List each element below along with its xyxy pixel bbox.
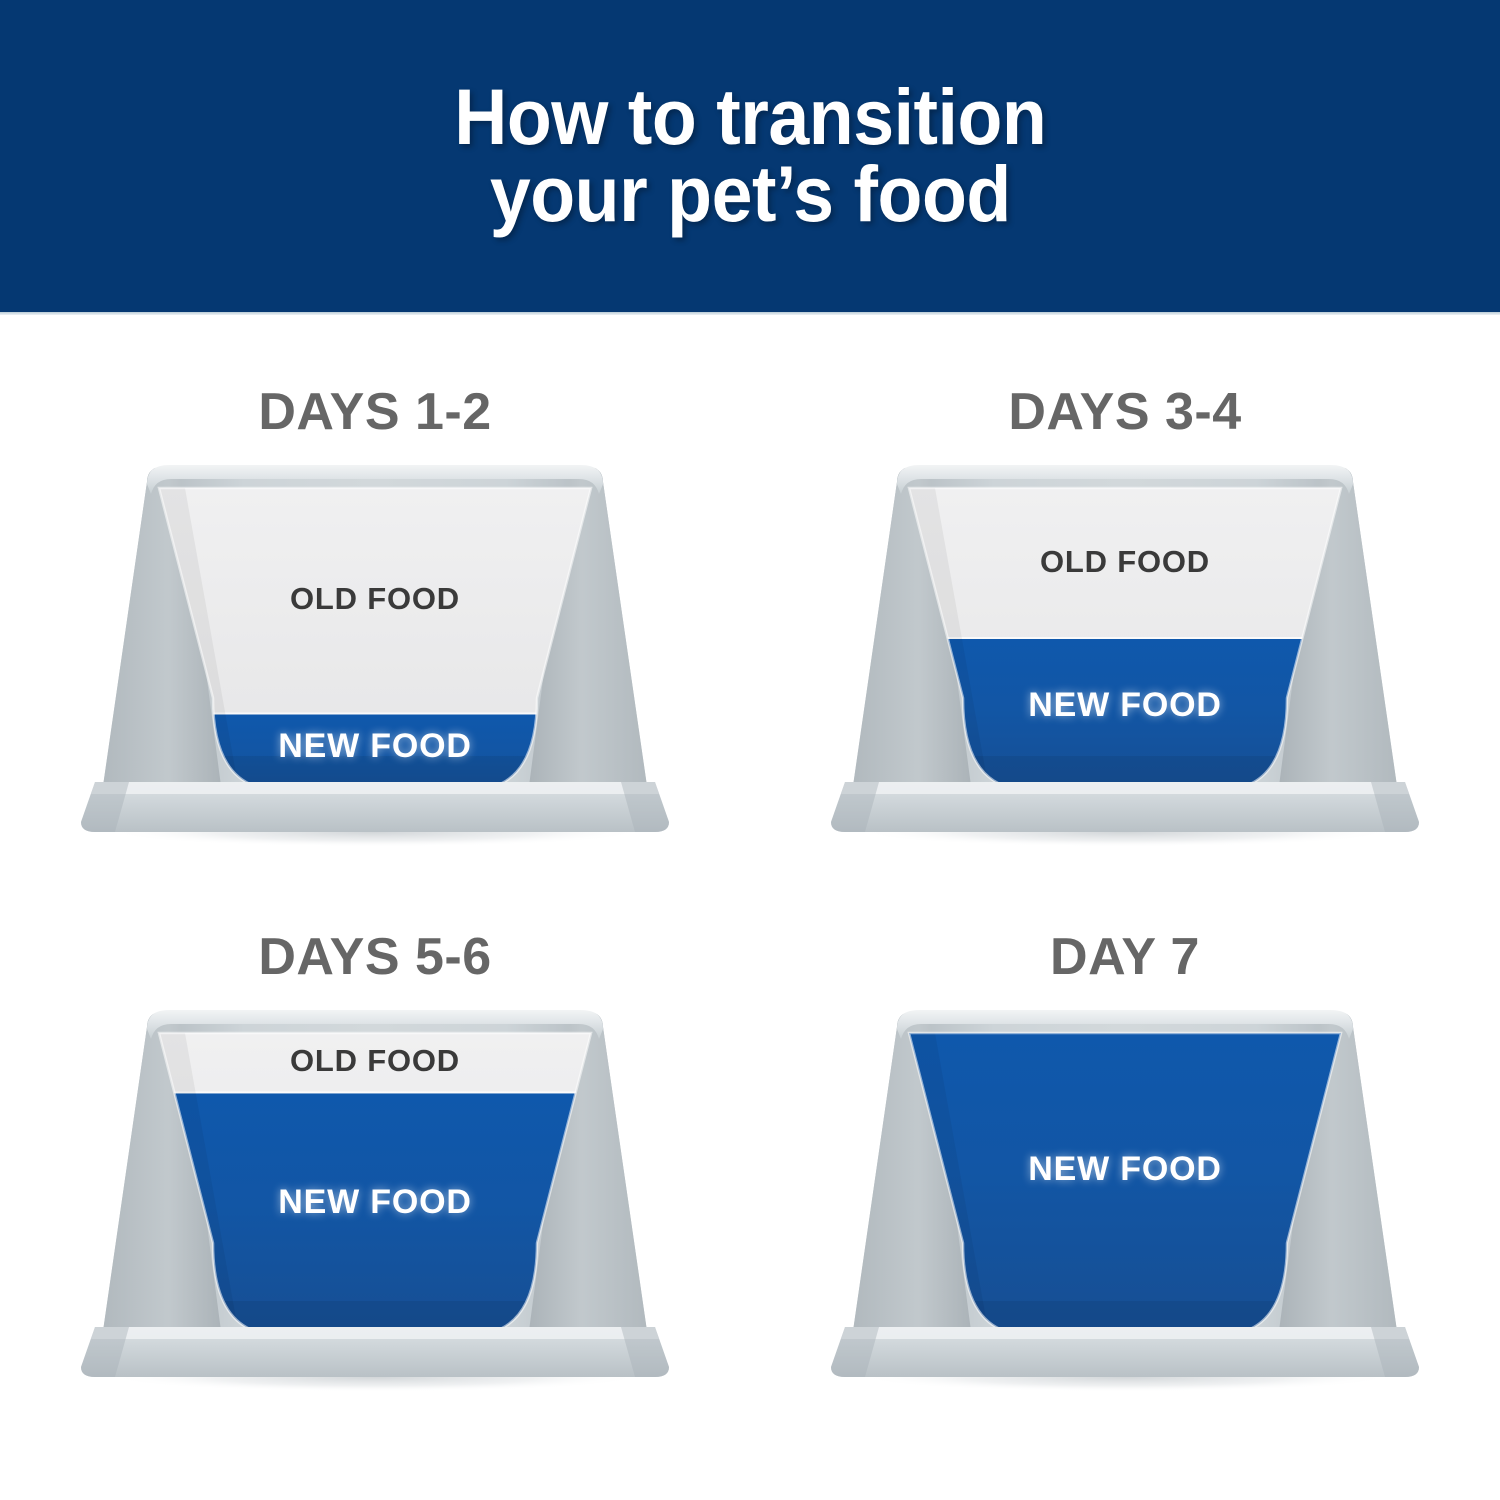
stage-card-day-7: DAY 7: [750, 910, 1500, 1500]
transition-stage-grid: DAYS 1-2: [0, 315, 1500, 1500]
header-banner: How to transition your pet’s food: [0, 0, 1500, 312]
bowl-illustration: [805, 1005, 1445, 1405]
stage-label: DAYS 3-4: [1008, 365, 1241, 460]
bowl-base-highlight: [841, 782, 1409, 794]
stage-label: DAYS 1-2: [258, 365, 491, 460]
bowl-base-highlight: [91, 1327, 659, 1339]
pet-food-bowl: OLD FOOD NEW FOOD: [805, 460, 1445, 860]
pet-food-bowl: OLD FOOD NEW FOOD: [55, 460, 695, 860]
page-title-line-1: How to transition: [454, 79, 1046, 156]
stage-card-days-5-6: DAYS 5-6: [0, 910, 750, 1500]
stage-label: DAYS 5-6: [258, 910, 491, 1005]
stage-card-days-3-4: DAYS 3-4: [750, 365, 1500, 955]
bowl-illustration: [55, 1005, 695, 1405]
pet-food-bowl: OLD FOOD NEW FOOD: [805, 1005, 1445, 1405]
page-title: How to transition your pet’s food: [454, 79, 1046, 232]
stage-card-days-1-2: DAYS 1-2: [0, 365, 750, 955]
bowl-illustration: [55, 460, 695, 860]
pet-food-bowl: OLD FOOD NEW FOOD: [55, 1005, 695, 1405]
bowl-base-highlight: [841, 1327, 1409, 1339]
stage-label: DAY 7: [1050, 910, 1200, 1005]
bowl-base-highlight: [91, 782, 659, 794]
page-title-line-2: your pet’s food: [454, 156, 1046, 233]
bowl-illustration: [805, 460, 1445, 860]
